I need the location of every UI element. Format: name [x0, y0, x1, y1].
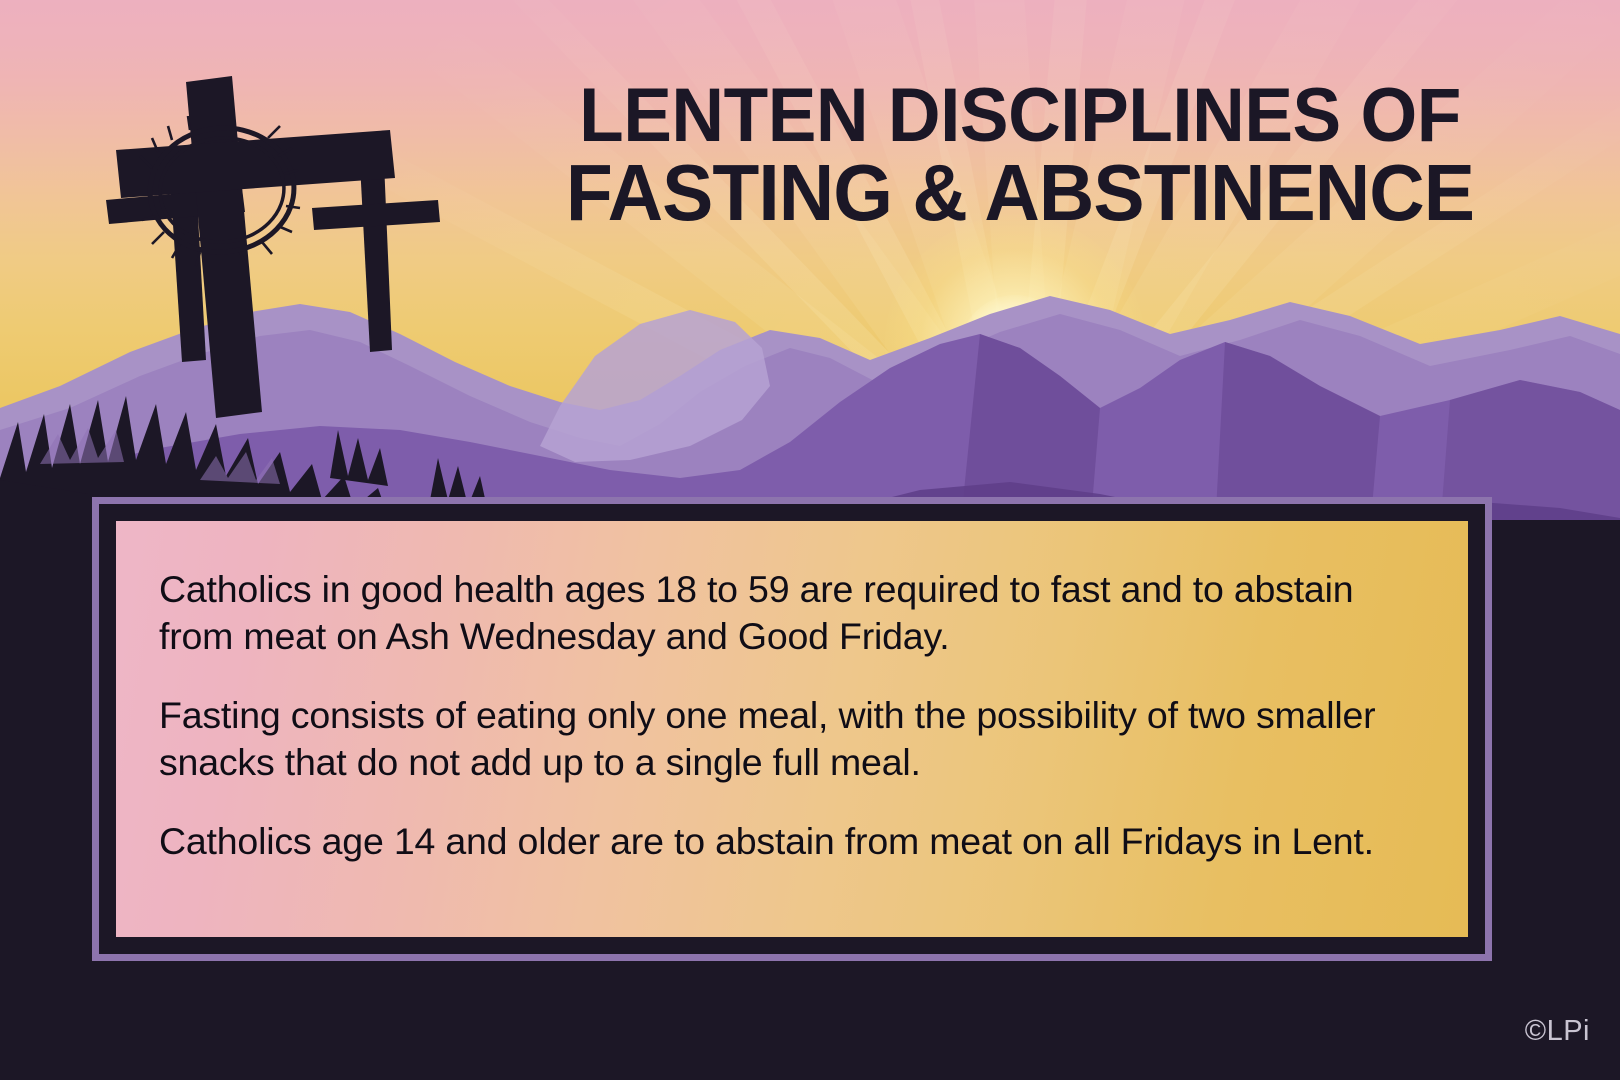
content-box-frame: Catholics in good health ages 18 to 59 a…	[92, 497, 1492, 961]
cross-right	[312, 162, 440, 352]
copyright-notice: ©LPi	[1525, 1015, 1590, 1048]
paragraph-fasting-requirement: Catholics in good health ages 18 to 59 a…	[159, 566, 1428, 660]
page-title: LENTEN DISCIPLINES OF FASTING & ABSTINEN…	[521, 78, 1519, 232]
lenten-disciplines-poster: LENTEN DISCIPLINES OF FASTING & ABSTINEN…	[0, 0, 1620, 1080]
paragraph-fasting-definition: Fasting consists of eating only one meal…	[159, 692, 1428, 786]
title-line-1: LENTEN DISCIPLINES OF	[579, 73, 1461, 158]
content-panel: Catholics in good health ages 18 to 59 a…	[116, 521, 1468, 937]
title-line-2: FASTING & ABSTINENCE	[521, 153, 1519, 232]
three-crosses-illustration	[90, 60, 510, 460]
paragraph-abstinence-rule: Catholics age 14 and older are to abstai…	[159, 818, 1428, 865]
